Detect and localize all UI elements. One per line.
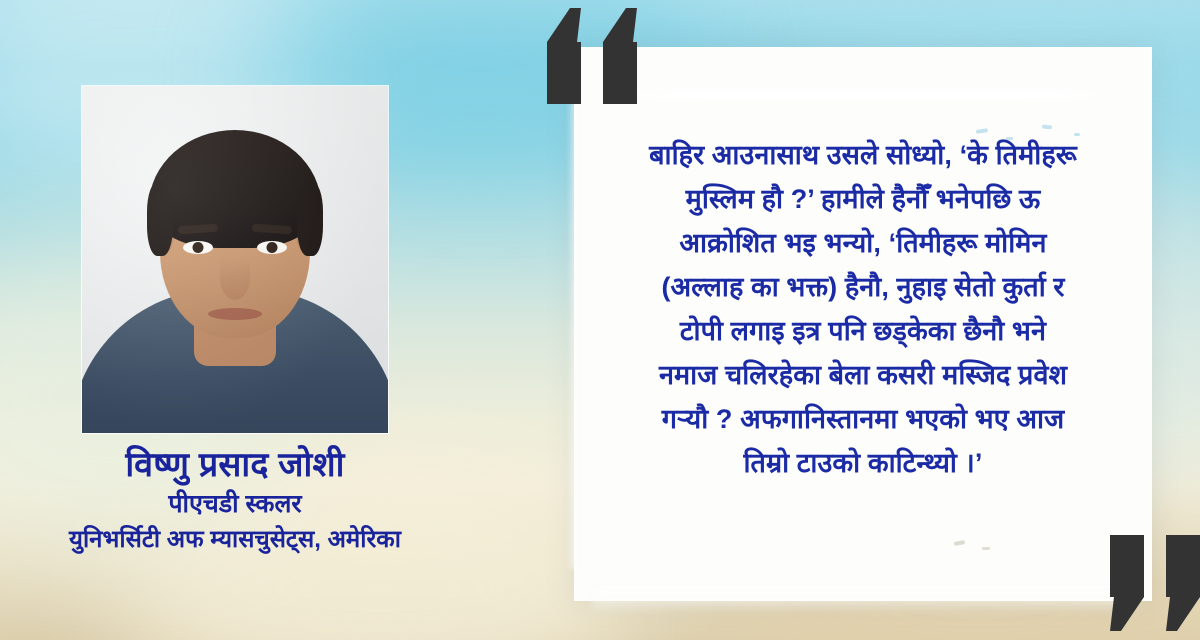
quote-line: तिम्रो टाउको काटिन्थ्यो ।’ [588, 441, 1138, 485]
quote-line: मुस्लिम हौ ?’ हामीले हैनौँ भनेपछि ऊ [588, 177, 1138, 221]
card-fleck [954, 540, 966, 546]
quote-line: गर्‍यौ ? अफगानिस्तानमा भएको भए आज [588, 397, 1138, 441]
quote-graphic: विष्णु प्रसाद जोशी पीएचडी स्कलर युनिभर्स… [0, 0, 1200, 640]
quote-line: (अल्लाह का भक्त) हैनौ, नुहाइ सेतो कुर्ता… [588, 265, 1138, 309]
portrait-photo [82, 86, 388, 433]
person-role: पीएचडी स्कलर [0, 488, 470, 521]
person-affiliation: युनिभर्सिटी अफ म्यासचुसेट्स, अमेरिका [0, 524, 470, 555]
person-caption: विष्णु प्रसाद जोशी पीएचडी स्कलर युनिभर्स… [0, 445, 470, 555]
quote-line: टोपी लगाइ इत्र पनि छड्केका छैनौ भने [588, 309, 1138, 353]
card-fleck [982, 547, 990, 550]
card-paint-wash [604, 89, 1124, 101]
photo-shading [82, 86, 388, 433]
person-name: विष्णु प्रसाद जोशी [0, 445, 470, 486]
card-fleck [1042, 124, 1052, 129]
quote-card: बाहिर आउनासाथ उसले सोध्यो, ‘के तिमीहरू म… [574, 47, 1152, 601]
quote-text: बाहिर आउनासाथ उसले सोध्यो, ‘के तिमीहरू म… [588, 133, 1138, 485]
quote-line: बाहिर आउनासाथ उसले सोध्यो, ‘के तिमीहरू [588, 133, 1138, 177]
quote-line: आक्रोशित भइ भन्यो, ‘तिमीहरू मोमिन [588, 221, 1138, 265]
quote-line: नमाज चलिरहेका बेला कसरी मस्जिद प्रवेश [588, 353, 1138, 397]
